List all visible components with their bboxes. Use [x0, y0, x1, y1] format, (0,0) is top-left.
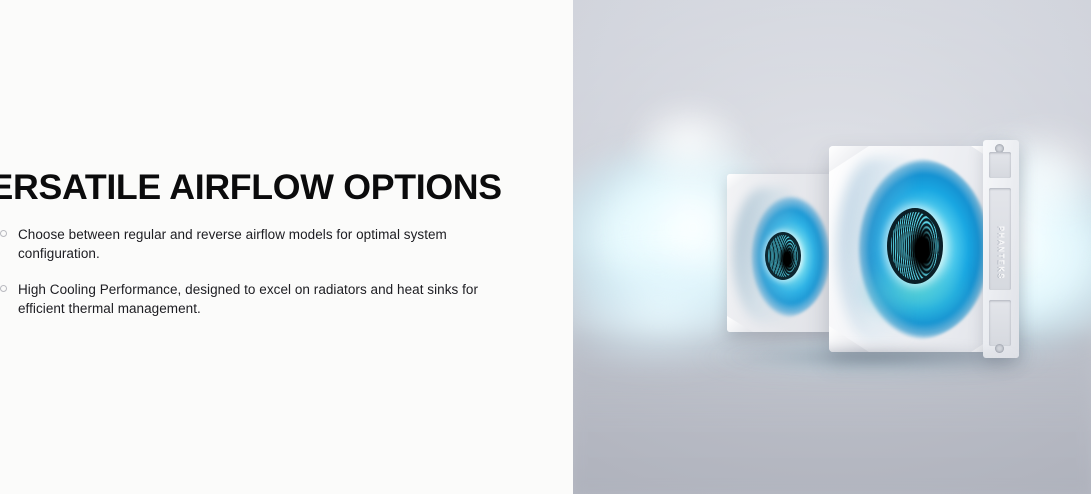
list-item: High Cooling Performance, designed to ex…: [0, 280, 500, 318]
bullet-text: Choose between regular and reverse airfl…: [18, 227, 447, 261]
rail-slot-upper: [989, 152, 1011, 178]
product-feature-section: VERSATILE AIRFLOW OPTIONS Choose between…: [0, 0, 1091, 494]
rear-fan-hub: [765, 232, 801, 280]
ring-bullet-icon: [0, 230, 7, 237]
page-title: VERSATILE AIRFLOW OPTIONS: [0, 168, 537, 208]
rear-fan-corner-bl: [727, 316, 753, 332]
front-fan-hub: [887, 208, 943, 284]
bullet-text: High Cooling Performance, designed to ex…: [18, 282, 478, 316]
copy-panel: VERSATILE AIRFLOW OPTIONS Choose between…: [0, 0, 573, 494]
product-image-panel: PHANTEKS: [573, 0, 1091, 494]
list-item: Choose between regular and reverse airfl…: [0, 225, 500, 263]
rear-fan-corner-tl: [727, 174, 753, 190]
brand-emboss-text: PHANTEKS: [997, 226, 1006, 280]
rail-slot-lower: [989, 300, 1011, 346]
ring-bullet-icon: [0, 285, 7, 292]
fan-side-rail: PHANTEKS: [983, 140, 1019, 358]
feature-bullet-list: Choose between regular and reverse airfl…: [0, 225, 526, 318]
product-contact-shadow: [723, 344, 1023, 370]
rear-fan: [727, 174, 835, 332]
copy-content: VERSATILE AIRFLOW OPTIONS Choose between…: [0, 168, 526, 318]
fan-assembly: PHANTEKS: [573, 0, 1091, 494]
